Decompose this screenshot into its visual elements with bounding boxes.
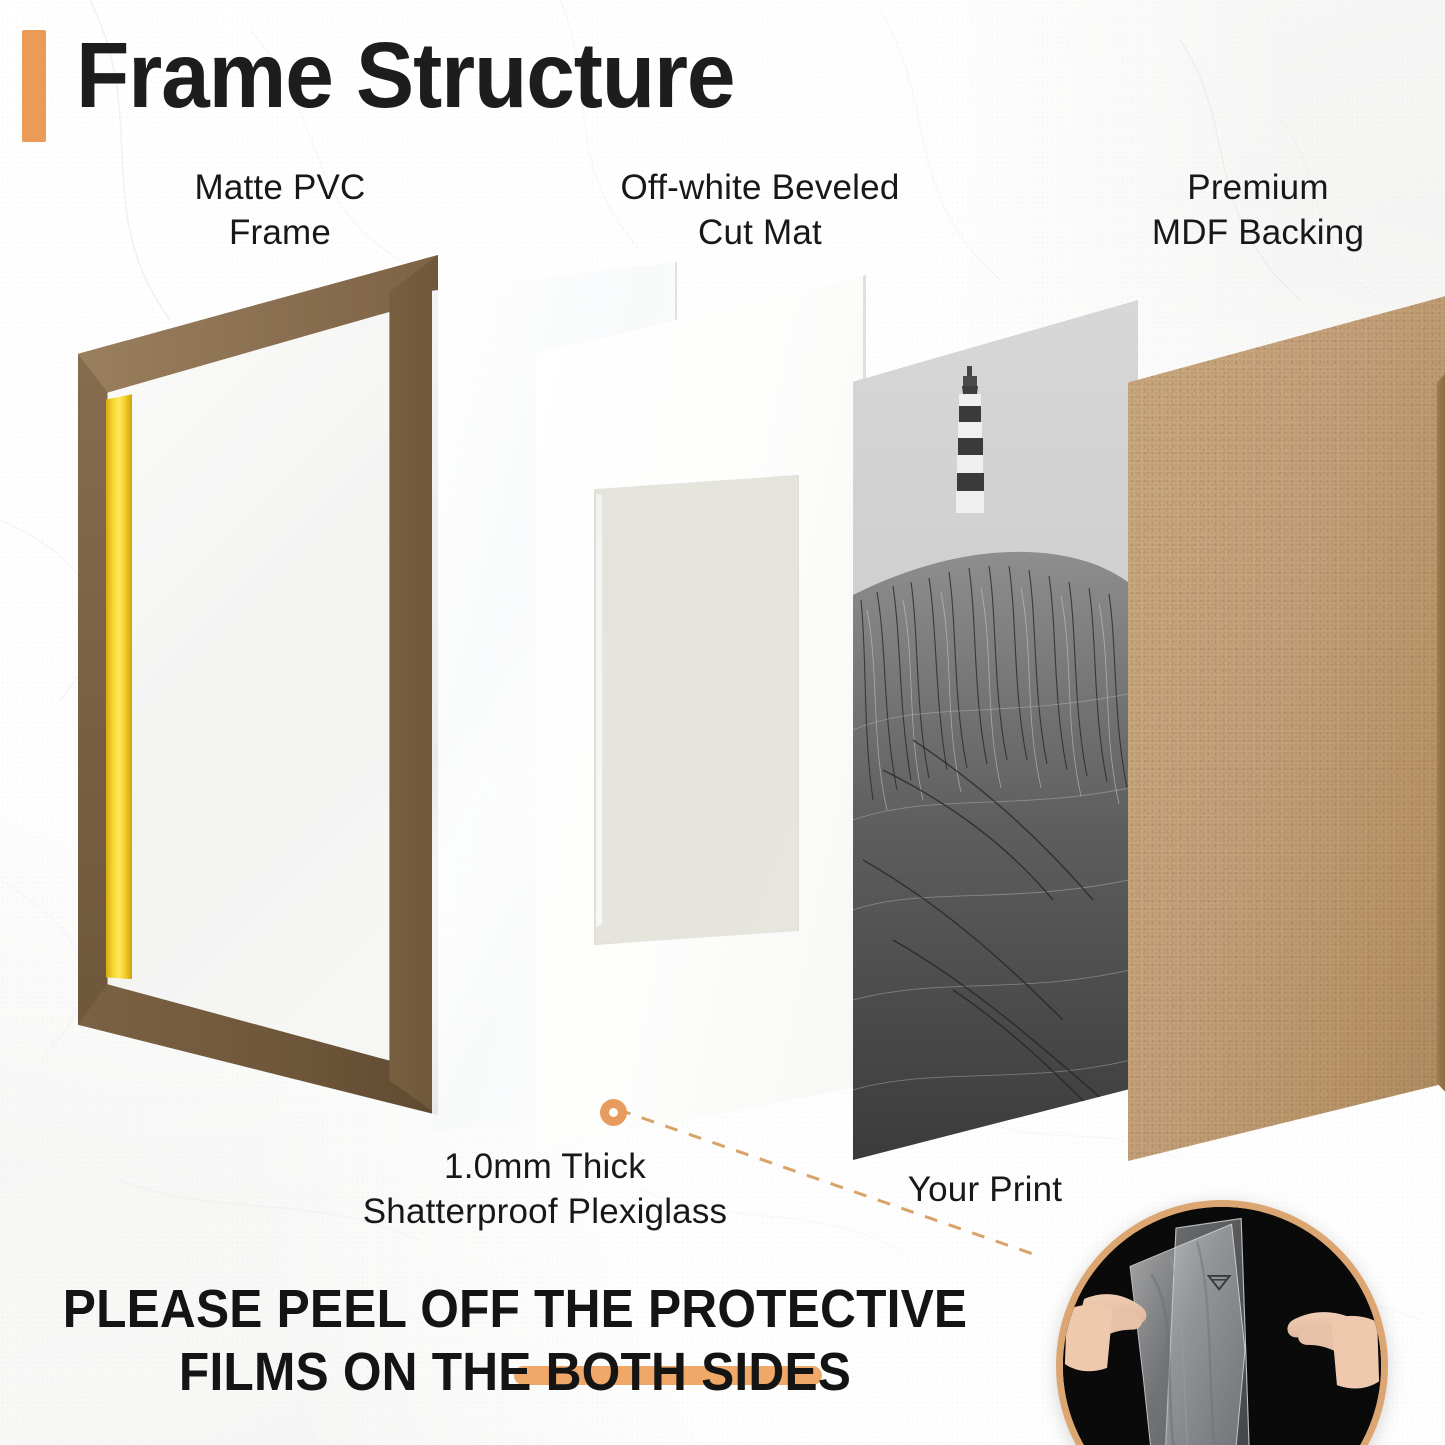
warning-line-2: FILMS ON THE BOTH SIDES — [41, 1341, 989, 1404]
warning-block: PLEASE PEEL OFF THE PROTECTIVE FILMS ON … — [0, 1278, 1030, 1403]
mat-board-layer — [536, 275, 866, 1150]
print-photograph — [853, 300, 1138, 1160]
label-your-print: Your Print — [835, 1168, 1135, 1213]
mat-bevel-edge — [594, 475, 799, 945]
warning-line-1: PLEASE PEEL OFF THE PROTECTIVE — [41, 1278, 989, 1341]
print-layer — [853, 300, 1138, 1160]
label-mdf-backing: Premium MDF Backing — [1070, 166, 1445, 256]
label-matte-pvc-frame: Matte PVC Frame — [120, 166, 440, 256]
mdf-backing-face — [1128, 296, 1445, 1161]
mdf-backing-edge — [1437, 296, 1445, 1161]
frame-opening — [104, 255, 416, 1115]
pvc-frame-layer — [78, 255, 438, 1115]
label-cut-mat: Off-white Beveled Cut Mat — [540, 166, 980, 256]
ring-marker-icon — [600, 1099, 627, 1126]
infographic-canvas: Frame Structure — [0, 0, 1445, 1445]
lighthouse-dunes-photo-icon — [853, 300, 1138, 1160]
label-plexiglass: 1.0mm Thick Shatterproof Plexiglass — [250, 1145, 840, 1235]
hands-peeling-film-icon — [1063, 1207, 1381, 1445]
mdf-backing-layer — [1128, 296, 1445, 1161]
